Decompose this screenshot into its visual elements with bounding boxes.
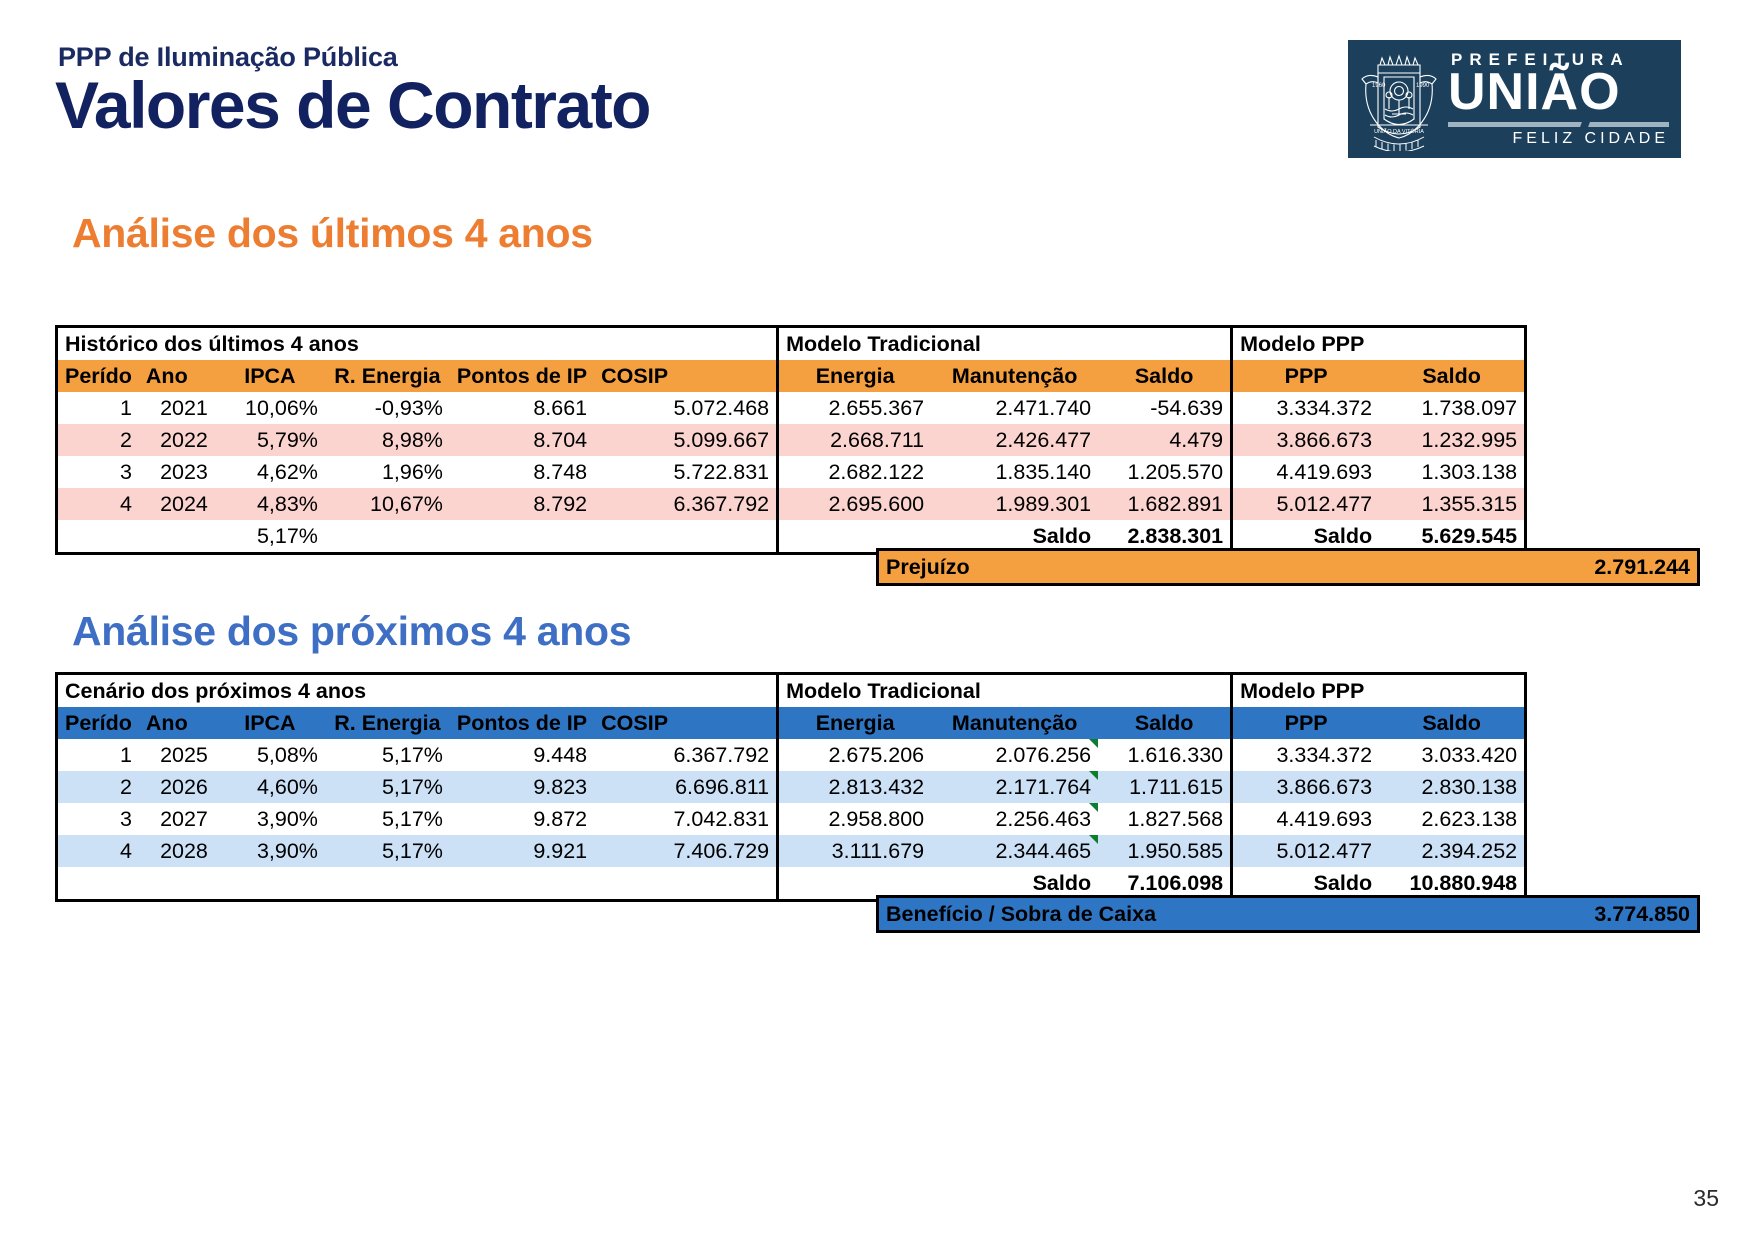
future-mid-caption: Modelo Tradicional (779, 675, 1230, 707)
cell-ipca: 10,06% (215, 392, 325, 424)
city-crest-icon: 1960 1990 UNIÃO DA VITÓRIA (1354, 47, 1444, 151)
cell-ipca: 4,60% (215, 771, 325, 803)
col-header-manutencao: Manutenção (931, 360, 1098, 392)
cell-energia: 2.675.206 (779, 739, 931, 771)
table-row: 2.655.367 2.471.740 -54.639 (779, 392, 1230, 424)
table-row: 5.012.477 2.394.252 (1233, 835, 1524, 867)
cell-saldo-tradicional: 1.711.615 (1098, 771, 1230, 803)
footer-value-beneficio: 3.774.850 (1288, 898, 1697, 930)
cell-pontos: 8.748 (450, 456, 594, 488)
table-row: 3.866.673 2.830.138 (1233, 771, 1524, 803)
cell-r-energia: 1,96% (325, 456, 450, 488)
cell-ipca: 5,79% (215, 424, 325, 456)
footer-value-prejuizo: 2.791.244 (1288, 551, 1697, 583)
table-next-4-years: Cenário dos próximos 4 anos Perído Ano I… (55, 672, 1527, 902)
cell-manutencao: 2.171.764 (931, 771, 1098, 803)
past-left-caption: Histórico dos últimos 4 anos (58, 328, 776, 360)
cell-pontos: 9.448 (450, 739, 594, 771)
cell-periodo: 4 (58, 835, 139, 867)
cell-saldo-tradicional: 1.950.585 (1098, 835, 1230, 867)
footer-row: Prejuízo 2.791.244 (879, 551, 1697, 583)
table-row: 4.419.693 1.303.138 (1233, 456, 1524, 488)
cell-ano: 2028 (139, 835, 215, 867)
logo-divider-rule (1448, 122, 1669, 127)
cell-saldo-ppp: 1.738.097 (1379, 392, 1524, 424)
slide: PPP de Iluminação Pública Valores de Con… (0, 0, 1755, 1240)
table-row: 3 2027 3,90% 5,17% 9.872 7.042.831 (58, 803, 776, 835)
cell-periodo: 1 (58, 392, 139, 424)
table-row: 1 2021 10,06% -0,93% 8.661 5.072.468 (58, 392, 776, 424)
cell-saldo-tradicional: 4.479 (1098, 424, 1230, 456)
cell-periodo: 2 (58, 771, 139, 803)
table-row: 2.695.600 1.989.301 1.682.891 (779, 488, 1230, 520)
past-right-caption: Modelo PPP (1233, 328, 1524, 360)
col-header-saldo-ppp: Saldo (1379, 360, 1524, 392)
table-row: 3.334.372 1.738.097 (1233, 392, 1524, 424)
table-row: 2.682.122 1.835.140 1.205.570 (779, 456, 1230, 488)
future-right-caption: Modelo PPP (1233, 675, 1524, 707)
col-header-ppp: PPP (1233, 707, 1379, 739)
col-header-manutencao: Manutenção (931, 707, 1098, 739)
cell-manutencao: 2.471.740 (931, 392, 1098, 424)
table-row: 2.675.206 2.076.256 1.616.330 (779, 739, 1230, 771)
table-row: 5.012.477 1.355.315 (1233, 488, 1524, 520)
col-header-periodo: Perído (58, 360, 139, 392)
cell-ipca: 5,08% (215, 739, 325, 771)
cell-manutencao: 1.835.140 (931, 456, 1098, 488)
cell-periodo: 1 (58, 739, 139, 771)
table-row: 2.958.800 2.256.463 1.827.568 (779, 803, 1230, 835)
table-caption-row: Cenário dos próximos 4 anos (58, 675, 776, 707)
cell-manutencao: 2.256.463 (931, 803, 1098, 835)
cell-ppp: 5.012.477 (1233, 835, 1379, 867)
table-row: 3 2023 4,62% 1,96% 8.748 5.722.831 (58, 456, 776, 488)
cell-ipca: 4,62% (215, 456, 325, 488)
cell-cosip: 5.722.831 (594, 456, 776, 488)
logo-text-block: PREFEITURA UNIÃO FELIZ CIDADE (1444, 50, 1681, 148)
cell-ppp: 3.866.673 (1233, 771, 1379, 803)
svg-text:1990: 1990 (1416, 83, 1430, 89)
cell-manutencao: 1.989.301 (931, 488, 1098, 520)
cell-r-energia: 10,67% (325, 488, 450, 520)
col-header-pontos-ip: Pontos de IP (450, 707, 594, 739)
table-caption-row: Modelo PPP (1233, 328, 1524, 360)
col-header-periodo: Perído (58, 707, 139, 739)
cell-cosip: 6.367.792 (594, 488, 776, 520)
table-row: 2 2026 4,60% 5,17% 9.823 6.696.811 (58, 771, 776, 803)
cell-energia: 2.813.432 (779, 771, 931, 803)
col-header-cosip: COSIP (594, 707, 776, 739)
svg-text:1960: 1960 (1372, 83, 1386, 89)
cell-ipca: 3,90% (215, 835, 325, 867)
cell-saldo-ppp: 2.623.138 (1379, 803, 1524, 835)
table-row: 4 2028 3,90% 5,17% 9.921 7.406.729 (58, 835, 776, 867)
cell-ano: 2023 (139, 456, 215, 488)
cell-saldo-ppp: 1.232.995 (1379, 424, 1524, 456)
cell-manutencao: 2.344.465 (931, 835, 1098, 867)
cell-cosip: 6.696.811 (594, 771, 776, 803)
cell-manutencao: 2.426.477 (931, 424, 1098, 456)
table-row: 1 2025 5,08% 5,17% 9.448 6.367.792 (58, 739, 776, 771)
past-footer-bar: Prejuízo 2.791.244 (876, 548, 1700, 586)
cell-saldo-ppp: 2.394.252 (1379, 835, 1524, 867)
future-left-caption: Cenário dos próximos 4 anos (58, 675, 776, 707)
col-header-ipca: IPCA (215, 707, 325, 739)
footer-row: Benefício / Sobra de Caixa 3.774.850 (879, 898, 1697, 930)
cell-r-energia: 5,17% (325, 835, 450, 867)
cell-saldo-tradicional: 1.827.568 (1098, 803, 1230, 835)
table-header-row: Energia Manutenção Saldo (779, 707, 1230, 739)
cell-manutencao: 2.076.256 (931, 739, 1098, 771)
page-title: Valores de Contrato (55, 72, 650, 138)
past-mid-caption: Modelo Tradicional (779, 328, 1230, 360)
footer-label-beneficio: Benefício / Sobra de Caixa (879, 898, 1288, 930)
cell-ano: 2025 (139, 739, 215, 771)
cell-energia: 2.655.367 (779, 392, 931, 424)
cell-ano: 2024 (139, 488, 215, 520)
cell-pontos: 8.661 (450, 392, 594, 424)
section-heading-past: Análise dos últimos 4 anos (72, 210, 593, 257)
cell-saldo-tradicional: -54.639 (1098, 392, 1230, 424)
col-header-energia: Energia (779, 360, 931, 392)
cell-pontos: 9.921 (450, 835, 594, 867)
cell-ppp: 3.866.673 (1233, 424, 1379, 456)
col-header-r-energia: R. Energia (325, 707, 450, 739)
cell-ppp: 4.419.693 (1233, 803, 1379, 835)
table-past-4-years: Histórico dos últimos 4 anos Perído Ano … (55, 325, 1527, 555)
cell-saldo-ppp: 2.830.138 (1379, 771, 1524, 803)
cell-saldo-tradicional: 1.682.891 (1098, 488, 1230, 520)
table-row: 2.813.432 2.171.764 1.711.615 (779, 771, 1230, 803)
cell-r-energia: 5,17% (325, 771, 450, 803)
table-row: 3.334.372 3.033.420 (1233, 739, 1524, 771)
cell-ipca: 3,90% (215, 803, 325, 835)
table-header-row: PPP Saldo (1233, 360, 1524, 392)
future-left-block: Cenário dos próximos 4 anos Perído Ano I… (55, 672, 779, 902)
cell-ppp: 4.419.693 (1233, 456, 1379, 488)
cell-saldo-tradicional: 1.205.570 (1098, 456, 1230, 488)
table-row: 4 2024 4,83% 10,67% 8.792 6.367.792 (58, 488, 776, 520)
cell-pontos: 9.872 (450, 803, 594, 835)
cell-saldo-tradicional: 1.616.330 (1098, 739, 1230, 771)
cell-energia: 2.682.122 (779, 456, 931, 488)
cell-cosip: 7.406.729 (594, 835, 776, 867)
table-row: 4.419.693 2.623.138 (1233, 803, 1524, 835)
cell-energia: 2.668.711 (779, 424, 931, 456)
col-header-ano: Ano (139, 360, 215, 392)
table-header-row: Energia Manutenção Saldo (779, 360, 1230, 392)
cell-saldo-ppp: 3.033.420 (1379, 739, 1524, 771)
table-average-row: 5,17% (58, 520, 776, 552)
cell-ipca: 4,83% (215, 488, 325, 520)
col-header-saldo-ppp: Saldo (1379, 707, 1524, 739)
past-traditional-block: Modelo Tradicional Energia Manutenção Sa… (776, 325, 1233, 555)
col-header-cosip: COSIP (594, 360, 776, 392)
cell-pontos: 8.792 (450, 488, 594, 520)
cell-r-energia: 5,17% (325, 803, 450, 835)
past-ppp-block: Modelo PPP PPP Saldo 3.334.372 1.738.097… (1230, 325, 1527, 555)
col-header-saldo: Saldo (1098, 707, 1230, 739)
page-number: 35 (1693, 1185, 1719, 1212)
cell-ppp: 3.334.372 (1233, 392, 1379, 424)
table-header-row: Perído Ano IPCA R. Energia Pontos de IP … (58, 360, 776, 392)
cell-pontos: 8.704 (450, 424, 594, 456)
cell-periodo: 3 (58, 456, 139, 488)
cell-periodo: 2 (58, 424, 139, 456)
table-row: 2 2022 5,79% 8,98% 8.704 5.099.667 (58, 424, 776, 456)
cell-energia: 3.111.679 (779, 835, 931, 867)
cell-ano: 2026 (139, 771, 215, 803)
table-header-row: PPP Saldo (1233, 707, 1524, 739)
cell-pontos: 9.823 (450, 771, 594, 803)
cell-energia: 2.958.800 (779, 803, 931, 835)
table-caption-row: Modelo Tradicional (779, 328, 1230, 360)
cell-periodo: 3 (58, 803, 139, 835)
future-traditional-block: Modelo Tradicional Energia Manutenção Sa… (776, 672, 1233, 902)
table-row: 3.111.679 2.344.465 1.950.585 (779, 835, 1230, 867)
table-caption-row: Modelo PPP (1233, 675, 1524, 707)
cell-r-energia: -0,93% (325, 392, 450, 424)
col-header-energia: Energia (779, 707, 931, 739)
table-caption-row: Histórico dos últimos 4 anos (58, 328, 776, 360)
table-row: 3.866.673 1.232.995 (1233, 424, 1524, 456)
cell-ano: 2022 (139, 424, 215, 456)
section-heading-future: Análise dos próximos 4 anos (72, 608, 631, 655)
cell-r-energia: 8,98% (325, 424, 450, 456)
cell-ipca-average: 5,17% (215, 520, 325, 552)
cell-ppp: 5.012.477 (1233, 488, 1379, 520)
table-caption-row: Modelo Tradicional (779, 675, 1230, 707)
cell-ano: 2021 (139, 392, 215, 424)
cell-cosip: 6.367.792 (594, 739, 776, 771)
logo-city-name: UNIÃO (1448, 68, 1669, 117)
past-left-block: Histórico dos últimos 4 anos Perído Ano … (55, 325, 779, 555)
cell-saldo-ppp: 1.355.315 (1379, 488, 1524, 520)
cell-ppp: 3.334.372 (1233, 739, 1379, 771)
table-blank-row (58, 867, 776, 899)
col-header-ano: Ano (139, 707, 215, 739)
cell-saldo-ppp: 1.303.138 (1379, 456, 1524, 488)
col-header-saldo: Saldo (1098, 360, 1230, 392)
col-header-r-energia: R. Energia (325, 360, 450, 392)
cell-cosip: 5.072.468 (594, 392, 776, 424)
future-footer-bar: Benefício / Sobra de Caixa 3.774.850 (876, 895, 1700, 933)
col-header-ipca: IPCA (215, 360, 325, 392)
svg-text:UNIÃO DA VITÓRIA: UNIÃO DA VITÓRIA (1374, 128, 1424, 135)
table-header-row: Perído Ano IPCA R. Energia Pontos de IP … (58, 707, 776, 739)
cell-energia: 2.695.600 (779, 488, 931, 520)
footer-label-prejuizo: Prejuízo (879, 551, 1288, 583)
cell-ipca-average (215, 867, 325, 899)
cell-r-energia: 5,17% (325, 739, 450, 771)
cell-cosip: 7.042.831 (594, 803, 776, 835)
cell-cosip: 5.099.667 (594, 424, 776, 456)
cell-ano: 2027 (139, 803, 215, 835)
prefeitura-uniao-logo: 1960 1990 UNIÃO DA VITÓRIA PREFEITURA UN… (1348, 40, 1681, 158)
col-header-ppp: PPP (1233, 360, 1379, 392)
col-header-pontos-ip: Pontos de IP (450, 360, 594, 392)
future-ppp-block: Modelo PPP PPP Saldo 3.334.372 3.033.420… (1230, 672, 1527, 902)
table-row: 2.668.711 2.426.477 4.479 (779, 424, 1230, 456)
logo-tagline: FELIZ CIDADE (1448, 130, 1669, 148)
cell-periodo: 4 (58, 488, 139, 520)
